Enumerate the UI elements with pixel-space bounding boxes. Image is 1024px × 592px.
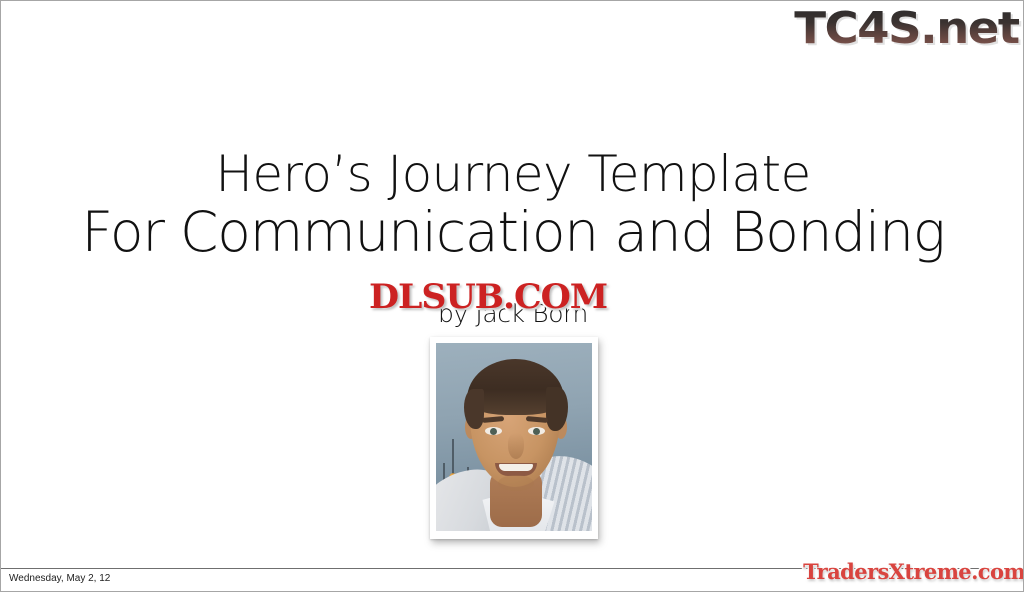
dlsub-watermark: DLSUB.COM bbox=[369, 277, 607, 317]
author-portrait-frame bbox=[430, 337, 598, 539]
photo-eye-right bbox=[528, 427, 545, 435]
footer-date: Wednesday, May 2, 12 bbox=[9, 573, 110, 584]
slide-title: Hero’s Journey Template For Communicatio… bbox=[1, 149, 1024, 260]
photo-eye-left bbox=[485, 427, 502, 435]
title-line-2: For Communication and Bonding bbox=[1, 204, 1024, 260]
tc4s-watermark: TC4S.net bbox=[795, 3, 1019, 54]
author-portrait-photo bbox=[436, 343, 592, 531]
presentation-slide: TC4S.net TC4S.net Hero’s Journey Templat… bbox=[0, 0, 1024, 592]
tradersxtreme-watermark: TradersXtreme.com bbox=[803, 559, 1024, 584]
photo-pupil-left bbox=[490, 428, 497, 435]
photo-chin bbox=[498, 475, 534, 491]
photo-hair-side-left bbox=[464, 389, 484, 429]
photo-nose bbox=[508, 433, 524, 459]
photo-pupil-right bbox=[533, 428, 540, 435]
title-line-1: Hero’s Journey Template bbox=[1, 149, 1024, 200]
photo-teeth bbox=[499, 464, 533, 471]
